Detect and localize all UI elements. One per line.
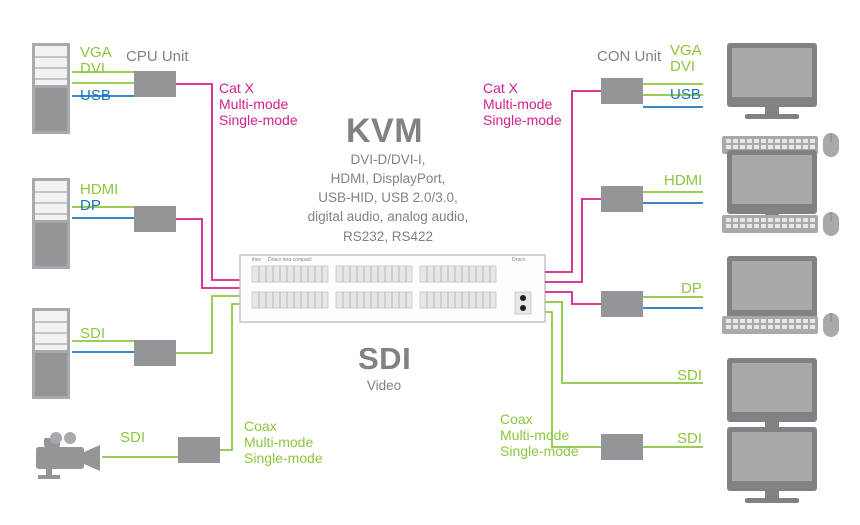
link-left-kvm-line-3: Single-mode <box>219 112 298 128</box>
source-1-label-dvi: DVI <box>80 60 105 77</box>
source-2-label-dp: DP <box>80 197 101 214</box>
sdi-title: SDI <box>358 341 411 377</box>
kvm-title: KVM <box>346 112 423 151</box>
display-1 <box>727 43 817 119</box>
camera-icon <box>36 432 100 479</box>
diagram-canvas: ihse Draco tera compact Draco KVM DVI-D/… <box>0 0 860 525</box>
sink-1-label-dvi: DVI <box>670 58 695 75</box>
camera-label-sdi: SDI <box>120 429 145 446</box>
link-left-sdi-line-1: Coax <box>244 418 323 434</box>
diagram-svg <box>0 0 860 525</box>
matrix-brand: Draco tera compact <box>268 258 312 264</box>
link-left-kvm-line-2: Multi-mode <box>219 96 298 112</box>
kvm-subtitle-line-3: USB-HID, USB 2.0/3.0, <box>298 188 478 207</box>
sdi-rx-box <box>601 434 643 460</box>
link-right-kvm-line-1: Cat X <box>483 80 562 96</box>
cpu-unit-box-1 <box>134 71 176 97</box>
con-unit-box-2 <box>601 186 643 212</box>
source-tower-1 <box>32 43 70 134</box>
con-unit-box-3 <box>601 291 643 317</box>
link-left-sdi-line-3: Single-mode <box>244 450 323 466</box>
con-unit-box-1 <box>601 78 643 104</box>
cpu-unit-box-3 <box>134 340 176 366</box>
matrix-right-text: Draco <box>512 258 525 264</box>
sink-1-label-usb: USB <box>670 86 701 103</box>
kvm-subtitle-line-5: RS232, RS422 <box>298 227 478 246</box>
kvm-subtitle: DVI-D/DVI-I, HDMI, DisplayPort, USB-HID,… <box>298 150 478 246</box>
link-left-kvm: Cat X Multi-mode Single-mode <box>219 80 298 128</box>
source-tower-2 <box>32 178 70 269</box>
link-right-sdi-line-2: Multi-mode <box>500 427 579 443</box>
source-1-label-vga: VGA <box>80 44 112 61</box>
keyboard-2 <box>722 215 818 233</box>
kvm-subtitle-line-4: digital audio, analog audio, <box>298 207 478 226</box>
link-right-sdi: Coax Multi-mode Single-mode <box>500 411 579 459</box>
mouse-3 <box>823 313 839 337</box>
link-catx-2 <box>176 219 240 288</box>
con-unit-label: CON Unit <box>597 48 661 65</box>
link-catx-r2 <box>545 199 601 282</box>
sink-3-label-dp: DP <box>681 280 702 297</box>
kvm-subtitle-line-2: HDMI, DisplayPort, <box>298 169 478 188</box>
source-2-label-hdmi: HDMI <box>80 181 118 198</box>
sink-4-label-sdi: SDI <box>677 367 702 384</box>
link-left-kvm-line-1: Cat X <box>219 80 298 96</box>
matrix-switch <box>240 255 545 322</box>
sdi-subtitle: Video <box>348 378 420 394</box>
display-4 <box>727 358 817 434</box>
link-right-sdi-line-1: Coax <box>500 411 579 427</box>
matrix-logo: ihse <box>252 258 261 264</box>
source-1-label-usb: USB <box>80 87 111 104</box>
keyboard-3 <box>722 316 818 334</box>
display-2 <box>727 150 817 226</box>
link-right-kvm-line-2: Multi-mode <box>483 96 562 112</box>
display-5 <box>727 427 817 503</box>
kvm-subtitle-line-1: DVI-D/DVI-I, <box>298 150 478 169</box>
mouse-2 <box>823 212 839 236</box>
cpu-unit-box-2 <box>134 206 176 232</box>
cpu-unit-label: CPU Unit <box>126 48 189 65</box>
mouse-1 <box>823 133 839 157</box>
link-right-kvm: Cat X Multi-mode Single-mode <box>483 80 562 128</box>
sink-2-label-hdmi: HDMI <box>664 172 702 189</box>
link-right-sdi-line-3: Single-mode <box>500 443 579 459</box>
sink-5-label-sdi: SDI <box>677 430 702 447</box>
link-coax-camera <box>220 304 240 450</box>
link-coax-3 <box>176 296 240 353</box>
link-left-sdi-line-2: Multi-mode <box>244 434 323 450</box>
sink-1-label-vga: VGA <box>670 42 702 59</box>
link-left-sdi: Coax Multi-mode Single-mode <box>244 418 323 466</box>
link-right-kvm-line-3: Single-mode <box>483 112 562 128</box>
source-3-label-sdi: SDI <box>80 325 105 342</box>
source-tower-3 <box>32 308 70 399</box>
sdi-tx-box <box>178 437 220 463</box>
